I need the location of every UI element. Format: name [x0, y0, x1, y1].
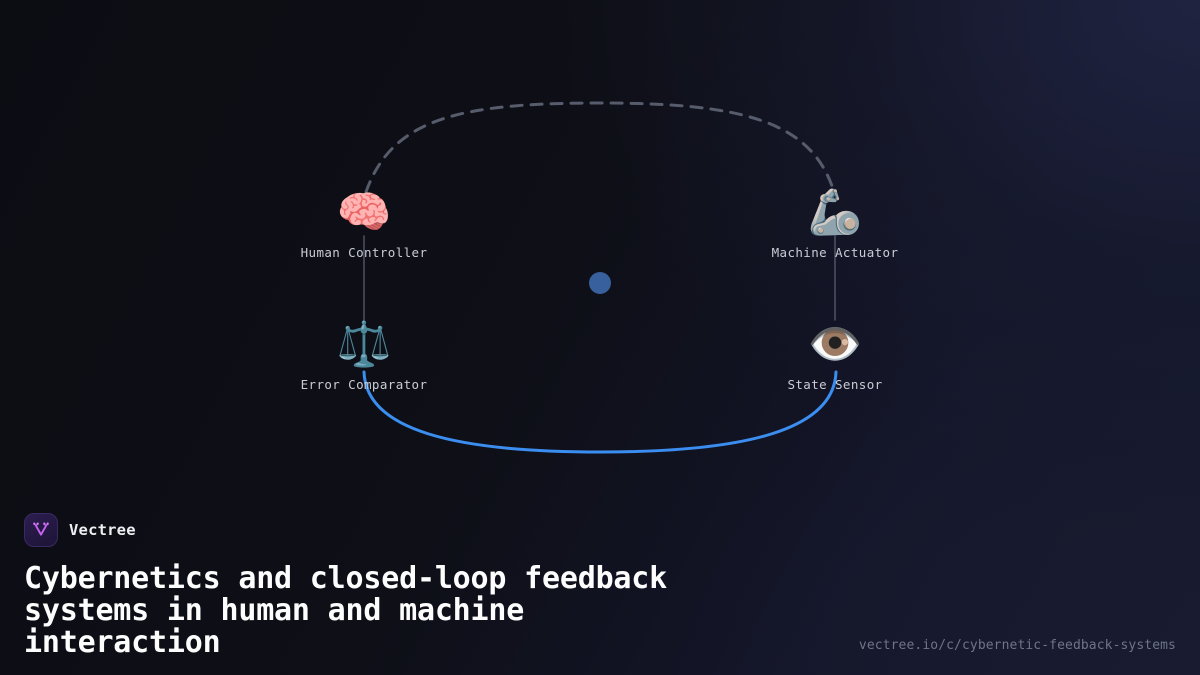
share-card: 🧠 Human Controller 🦾 Machine Actuator ⚖️…: [0, 0, 1200, 675]
node-human-controller[interactable]: 🧠 Human Controller: [284, 187, 444, 260]
page-title: Cybernetics and closed-loop feedback sys…: [24, 563, 854, 659]
vectree-logo-icon: [24, 513, 58, 547]
eye-icon: 👁️: [755, 319, 915, 371]
node-machine-actuator[interactable]: 🦾 Machine Actuator: [755, 187, 915, 260]
node-label-state-sensor: State Sensor: [755, 377, 915, 392]
source-url: vectree.io/c/cybernetic-feedback-systems: [859, 638, 1176, 653]
card-footer: Vectree Cybernetics and closed-loop feed…: [0, 513, 1200, 675]
loop-center-marker: [589, 272, 611, 294]
brand-name: Vectree: [69, 521, 136, 539]
node-state-sensor[interactable]: 👁️ State Sensor: [755, 319, 915, 392]
node-label-error-comparator: Error Comparator: [284, 377, 444, 392]
mechanical-arm-icon: 🦾: [755, 187, 915, 239]
node-error-comparator[interactable]: ⚖️ Error Comparator: [284, 319, 444, 392]
edge-command: [366, 103, 834, 192]
diagram-canvas: [0, 0, 1200, 470]
balance-scale-icon: ⚖️: [284, 319, 444, 371]
node-label-machine-actuator: Machine Actuator: [755, 245, 915, 260]
brain-icon: 🧠: [284, 187, 444, 239]
node-label-human-controller: Human Controller: [284, 245, 444, 260]
brand: Vectree: [24, 513, 1176, 547]
